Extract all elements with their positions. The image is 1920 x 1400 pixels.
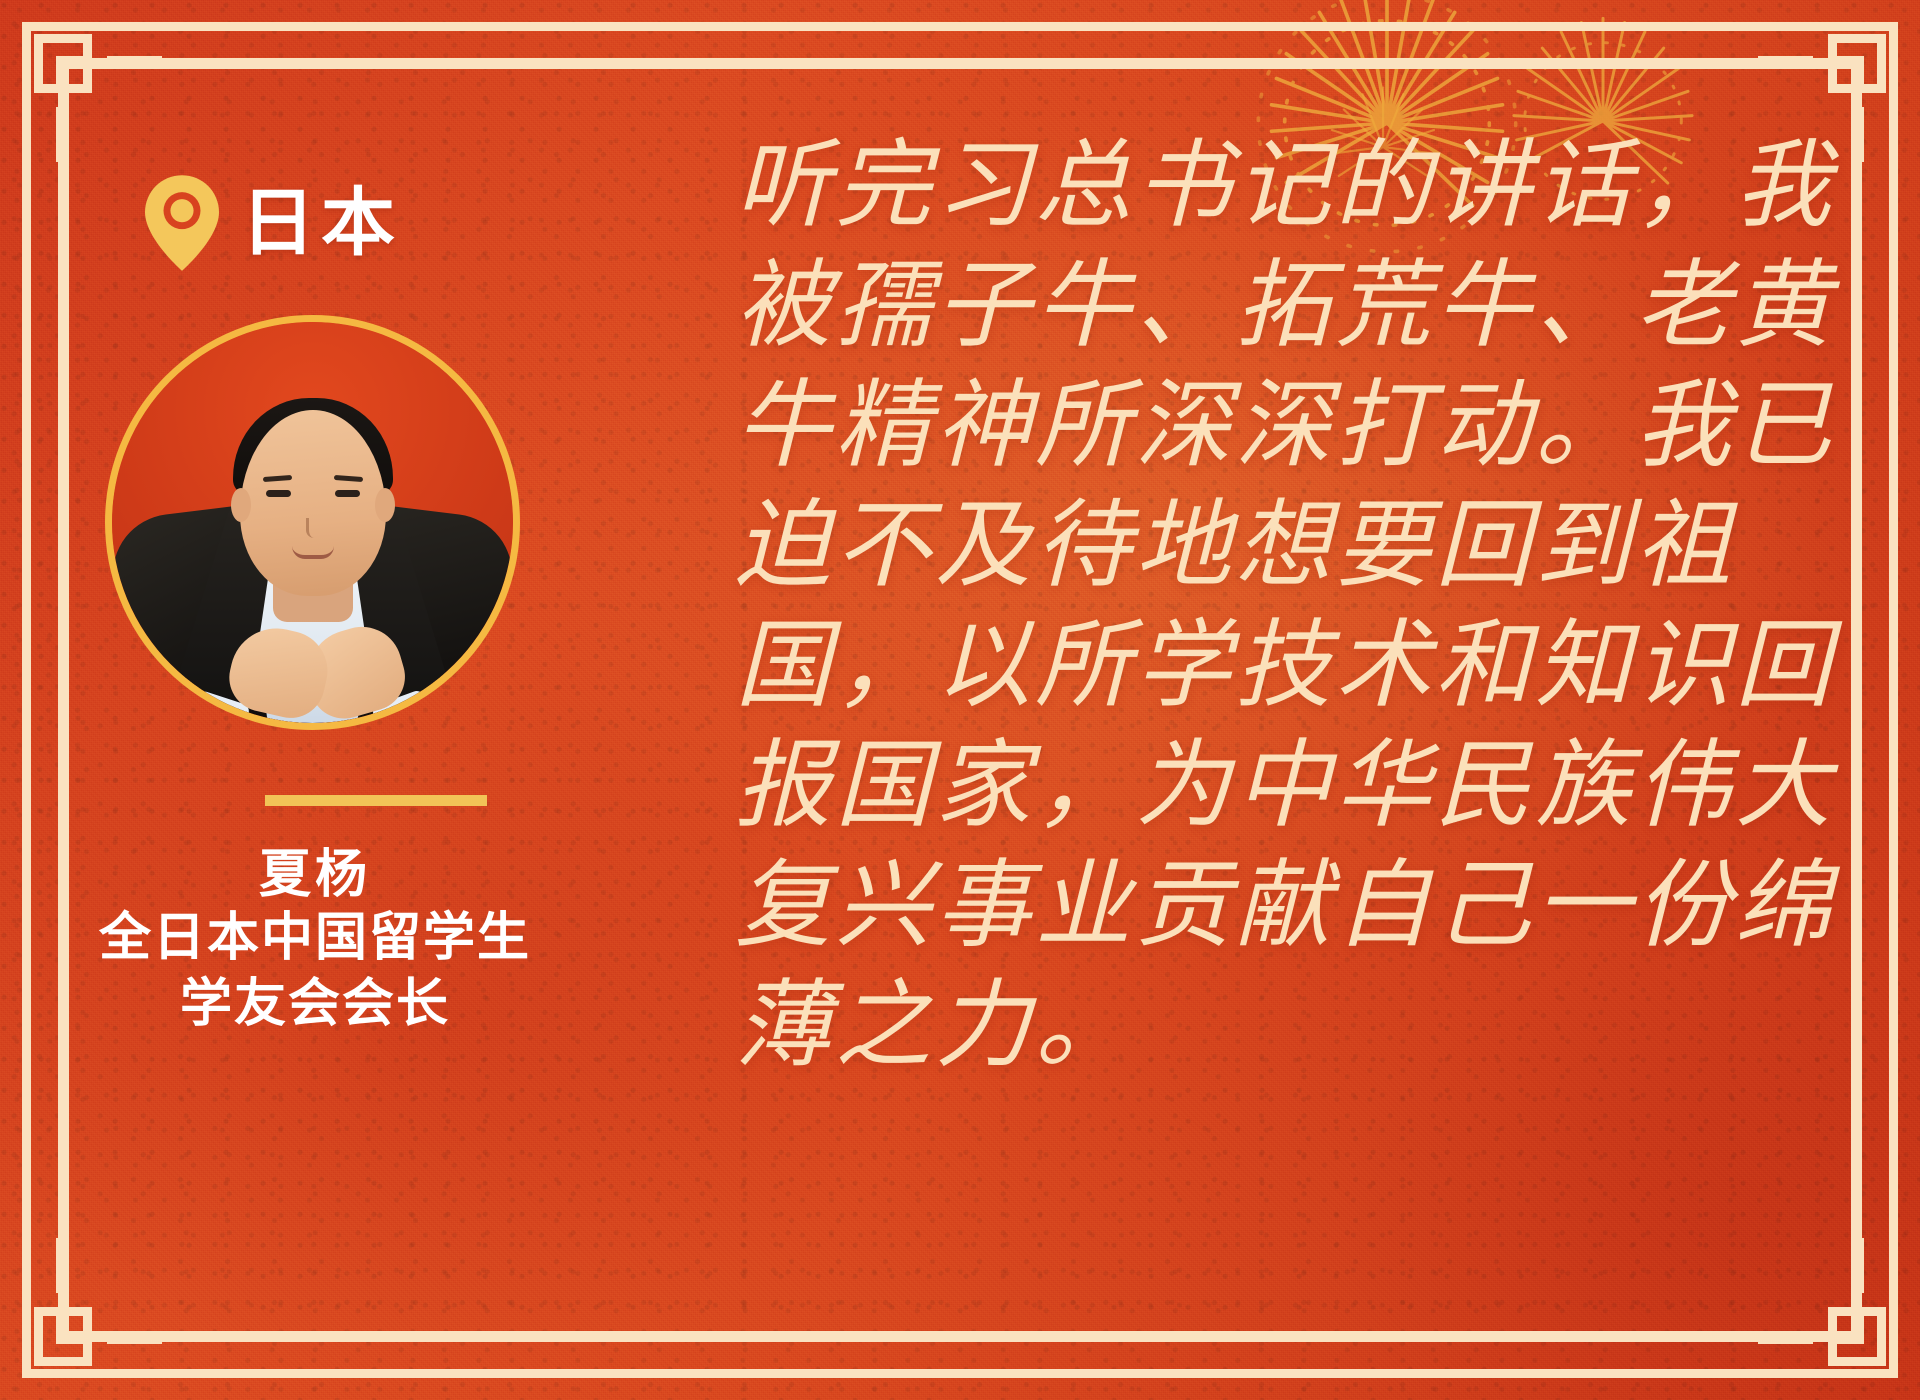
quote-line: 被孺子牛、拓荒牛、老黄: [735, 245, 1845, 365]
poster-canvas: 日本: [0, 0, 1920, 1400]
quote-line: 报国家，为中华民族伟大: [735, 725, 1845, 845]
quote-block: 听完习总书记的讲话，我 被孺子牛、拓荒牛、老黄 牛精神所深深打动。我已 迫不及待…: [735, 125, 1845, 1085]
name-divider: [265, 795, 487, 806]
frame-inner-bottom: [58, 1331, 1862, 1342]
corner-ornament-bottom-right: [1758, 1238, 1908, 1388]
person-name: 夏杨: [75, 845, 555, 906]
frame-inner-right: [1851, 58, 1862, 1342]
name-block: 夏杨 全日本中国留学生 学友会会长: [75, 845, 555, 1037]
frame-border-bottom: [22, 1369, 1898, 1378]
location-label: 日本: [241, 186, 401, 260]
frame-inner-top: [58, 58, 1862, 69]
location-row: 日本: [145, 175, 401, 271]
person-role-line-2: 学友会会长: [75, 972, 555, 1038]
frame-border-right: [1889, 22, 1898, 1378]
map-pin-icon: [145, 175, 219, 271]
quote-line: 听完习总书记的讲话，我: [735, 125, 1845, 245]
frame-border-top: [22, 22, 1898, 31]
quote-line: 薄之力。: [735, 965, 1845, 1085]
frame-border-left: [22, 22, 31, 1378]
quote-line: 牛精神所深深打动。我已: [735, 365, 1845, 485]
avatar: [105, 315, 520, 730]
profile-column: 日本: [75, 140, 555, 1270]
quote-line: 复兴事业贡献自己一份绵: [735, 845, 1845, 965]
avatar-photo: [112, 322, 513, 723]
frame-inner-left: [58, 58, 69, 1342]
quote-line: 国，以所学技术和知识回: [735, 605, 1845, 725]
quote-line: 迫不及待地想要回到祖: [735, 485, 1845, 605]
person-role-line-1: 全日本中国留学生: [75, 906, 555, 972]
